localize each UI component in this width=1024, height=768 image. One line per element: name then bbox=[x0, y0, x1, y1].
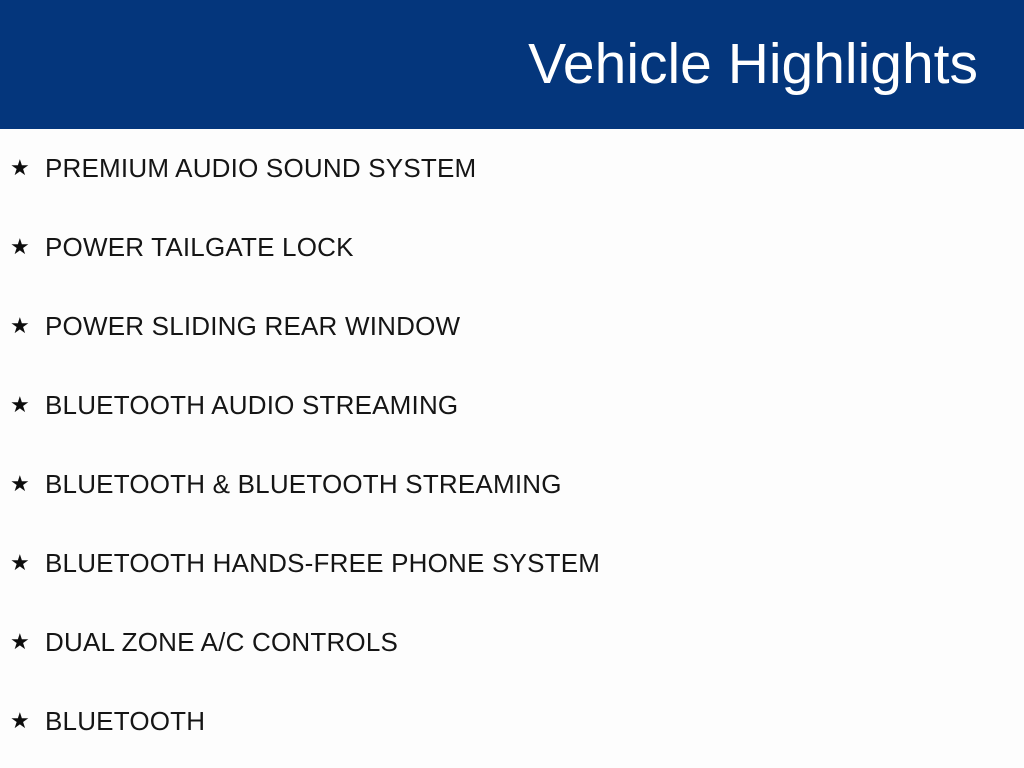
vehicle-highlights-slide: Vehicle Highlights ★ PREMIUM AUDIO SOUND… bbox=[0, 0, 1024, 768]
highlight-label: POWER SLIDING REAR WINDOW bbox=[45, 311, 1024, 342]
highlight-label: BLUETOOTH bbox=[45, 706, 1024, 737]
header-banner: Vehicle Highlights bbox=[0, 0, 1024, 129]
highlight-label: BLUETOOTH AUDIO STREAMING bbox=[45, 390, 1024, 421]
star-bullet-icon: ★ bbox=[10, 553, 30, 575]
list-item: ★ BLUETOOTH AUDIO STREAMING bbox=[0, 366, 1024, 445]
highlight-label: POWER TAILGATE LOCK bbox=[45, 232, 1024, 263]
star-bullet-icon: ★ bbox=[10, 158, 30, 180]
list-item: ★ POWER TAILGATE LOCK bbox=[0, 208, 1024, 287]
list-item: ★ BLUETOOTH HANDS-FREE PHONE SYSTEM bbox=[0, 524, 1024, 603]
star-bullet-icon: ★ bbox=[10, 395, 30, 417]
list-item: ★ POWER SLIDING REAR WINDOW bbox=[0, 287, 1024, 366]
star-bullet-icon: ★ bbox=[10, 632, 30, 654]
star-bullet-icon: ★ bbox=[10, 237, 30, 259]
list-item: ★ PREMIUM AUDIO SOUND SYSTEM bbox=[0, 129, 1024, 208]
star-bullet-icon: ★ bbox=[10, 474, 30, 496]
star-bullet-icon: ★ bbox=[10, 711, 30, 733]
highlight-label: BLUETOOTH HANDS-FREE PHONE SYSTEM bbox=[45, 548, 1024, 579]
list-item: ★ BLUETOOTH bbox=[0, 682, 1024, 761]
list-item: ★ DUAL ZONE A/C CONTROLS bbox=[0, 603, 1024, 682]
page-title: Vehicle Highlights bbox=[528, 35, 978, 95]
star-bullet-icon: ★ bbox=[10, 316, 30, 338]
highlight-label: DUAL ZONE A/C CONTROLS bbox=[45, 627, 1024, 658]
highlight-label: PREMIUM AUDIO SOUND SYSTEM bbox=[45, 153, 1024, 184]
highlight-label: BLUETOOTH & BLUETOOTH STREAMING bbox=[45, 469, 1024, 500]
list-item: ★ BLUETOOTH & BLUETOOTH STREAMING bbox=[0, 445, 1024, 524]
vehicle-highlights-list: ★ PREMIUM AUDIO SOUND SYSTEM ★ POWER TAI… bbox=[0, 129, 1024, 761]
